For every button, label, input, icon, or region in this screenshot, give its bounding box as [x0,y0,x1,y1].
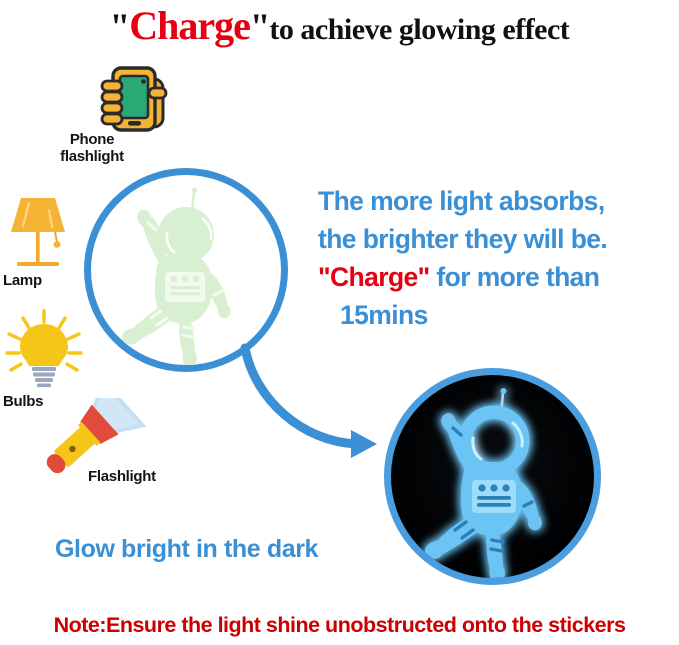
phone-flashlight-label-line2: flashlight [60,148,124,165]
bulbs-label: Bulbs [3,393,43,410]
instruction-line-3-rest: for more than [430,262,600,292]
instruction-line-3: "Charge" for more than [318,258,679,296]
instruction-charge-quote-open: " [318,262,330,292]
title-quote-open: " [110,7,130,48]
phone-flashlight-label: Phone flashlight [42,131,142,165]
instruction-charge-quote-close: " [418,262,430,292]
page-title: "Charge"to achieve glowing effect [0,2,679,49]
title-charge-word: Charge [129,3,250,48]
instruction-line-2: the brighter they will be. [318,220,679,258]
charging-arrow [225,330,400,465]
title-quote-close: " [250,7,270,48]
poster-canvas: "Charge"to achieve glowing effect Phone … [0,0,679,645]
glow-caption: Glow bright in the dark [55,535,318,564]
table-lamp-icon [3,192,73,270]
instruction-line-4: 15mins [318,296,679,334]
instruction-charge-word: Charge [330,262,418,292]
astronaut-sticker-glowing [391,375,594,578]
bottom-note: Note:Ensure the light shine unobstructed… [0,613,679,638]
light-bulb-icon [3,308,85,390]
flashlight-label: Flashlight [88,468,156,485]
title-rest: to achieve glowing effect [269,13,569,46]
lamp-label: Lamp [3,272,42,289]
instruction-paragraph: The more light absorbs, the brighter the… [318,182,679,334]
phone-flashlight-label-line1: Phone [70,131,114,148]
instruction-line-1: The more light absorbs, [318,182,679,220]
phone-in-hand-icon [95,62,173,140]
astronaut-dark-circle [384,368,601,585]
